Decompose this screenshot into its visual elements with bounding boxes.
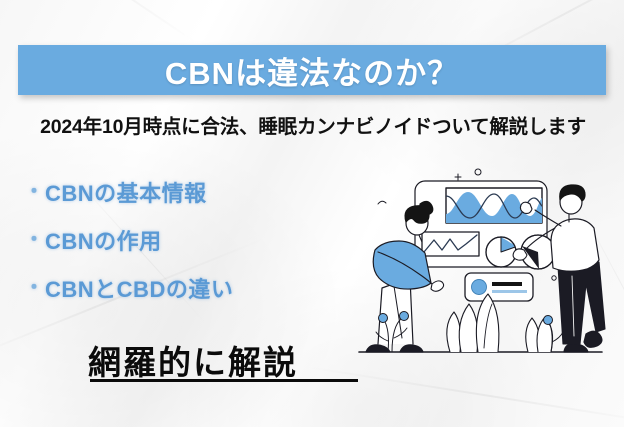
person-right-torso <box>551 219 599 271</box>
person-right-hand-right <box>520 202 532 213</box>
bullet-marker-icon: ・ <box>24 182 36 202</box>
plant-bud <box>379 314 388 323</box>
plant-bud <box>400 312 409 321</box>
plant-bud <box>544 316 553 325</box>
card-line-secondary <box>492 290 527 293</box>
person-right-shoe <box>564 344 588 352</box>
list-item-label: CBNの基本情報 <box>45 176 207 208</box>
person-left-shoe <box>366 345 390 352</box>
plant-leaf <box>459 304 478 352</box>
list-item-label: CBNの作用 <box>45 224 162 256</box>
person-left-shoe <box>400 345 423 352</box>
page-subtitle: 2024年10月時点に合法、睡眠カンナビノイドついて解説します <box>13 110 613 139</box>
bullet-list: ・ CBNの基本情報 ・ CBNの作用 ・ CBNとCBDの違い <box>24 168 344 312</box>
bullet-marker-icon: ・ <box>24 278 36 298</box>
person-right-shoe <box>584 331 602 347</box>
paper-crease <box>0 0 198 44</box>
person-right-hand-left <box>513 249 527 260</box>
bullet-marker-icon: ・ <box>24 230 36 250</box>
illustration-data-analysis <box>358 166 610 362</box>
slide-canvas: CBNは違法なのか？ 2024年10月時点に合法、睡眠カンナビノイドついて解説し… <box>0 0 624 427</box>
list-item: ・ CBNの作用 <box>24 216 344 264</box>
page-title: CBNは違法なのか？ <box>165 48 459 93</box>
title-banner: CBNは違法なのか？ <box>18 45 606 95</box>
plant-leaf <box>476 294 499 352</box>
plant-leaf <box>447 312 461 352</box>
person-right-legs <box>558 262 605 344</box>
avatar <box>472 280 487 295</box>
person-left-hand <box>431 281 444 291</box>
list-item-label: CBNとCBDの違い <box>45 272 233 304</box>
paper-crease <box>302 365 624 426</box>
list-item: ・ CBNとCBDの違い <box>24 264 344 312</box>
card-line-primary <box>492 282 522 286</box>
list-item: ・ CBNの基本情報 <box>24 168 344 216</box>
person-left-hairbun <box>420 201 433 215</box>
headline-underline <box>90 379 358 382</box>
